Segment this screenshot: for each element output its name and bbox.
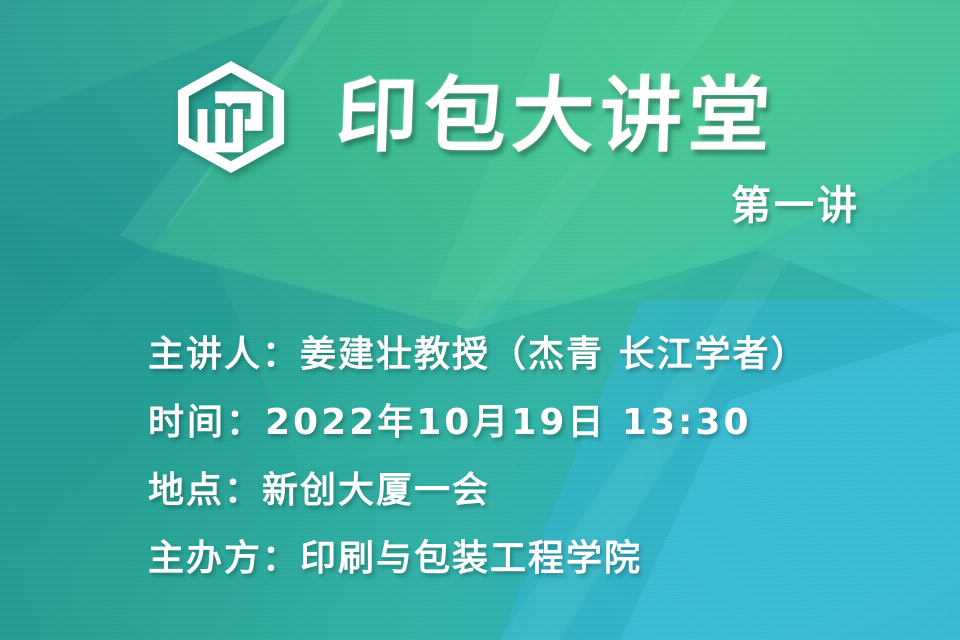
detail-time: 时间：2022年10月19日 13:30 — [148, 402, 809, 444]
poster-subtitle: 第一讲 — [731, 186, 860, 226]
hexagon-cube-logo-icon — [172, 58, 290, 176]
event-details-list: 主讲人：姜建壮教授（杰青 长江学者） 时间：2022年10月19日 13:30 … — [148, 334, 809, 580]
poster-header: 印包大讲堂 — [172, 58, 776, 176]
detail-host: 主办方：印刷与包装工程学院 — [148, 538, 809, 580]
detail-speaker: 主讲人：姜建壮教授（杰青 长江学者） — [148, 334, 809, 376]
poster-title: 印包大讲堂 — [335, 76, 778, 158]
poster-canvas: 印包大讲堂 第一讲 主讲人：姜建壮教授（杰青 长江学者） 时间：2022年10月… — [0, 0, 960, 640]
detail-venue: 地点：新创大厦一会 — [148, 470, 809, 512]
